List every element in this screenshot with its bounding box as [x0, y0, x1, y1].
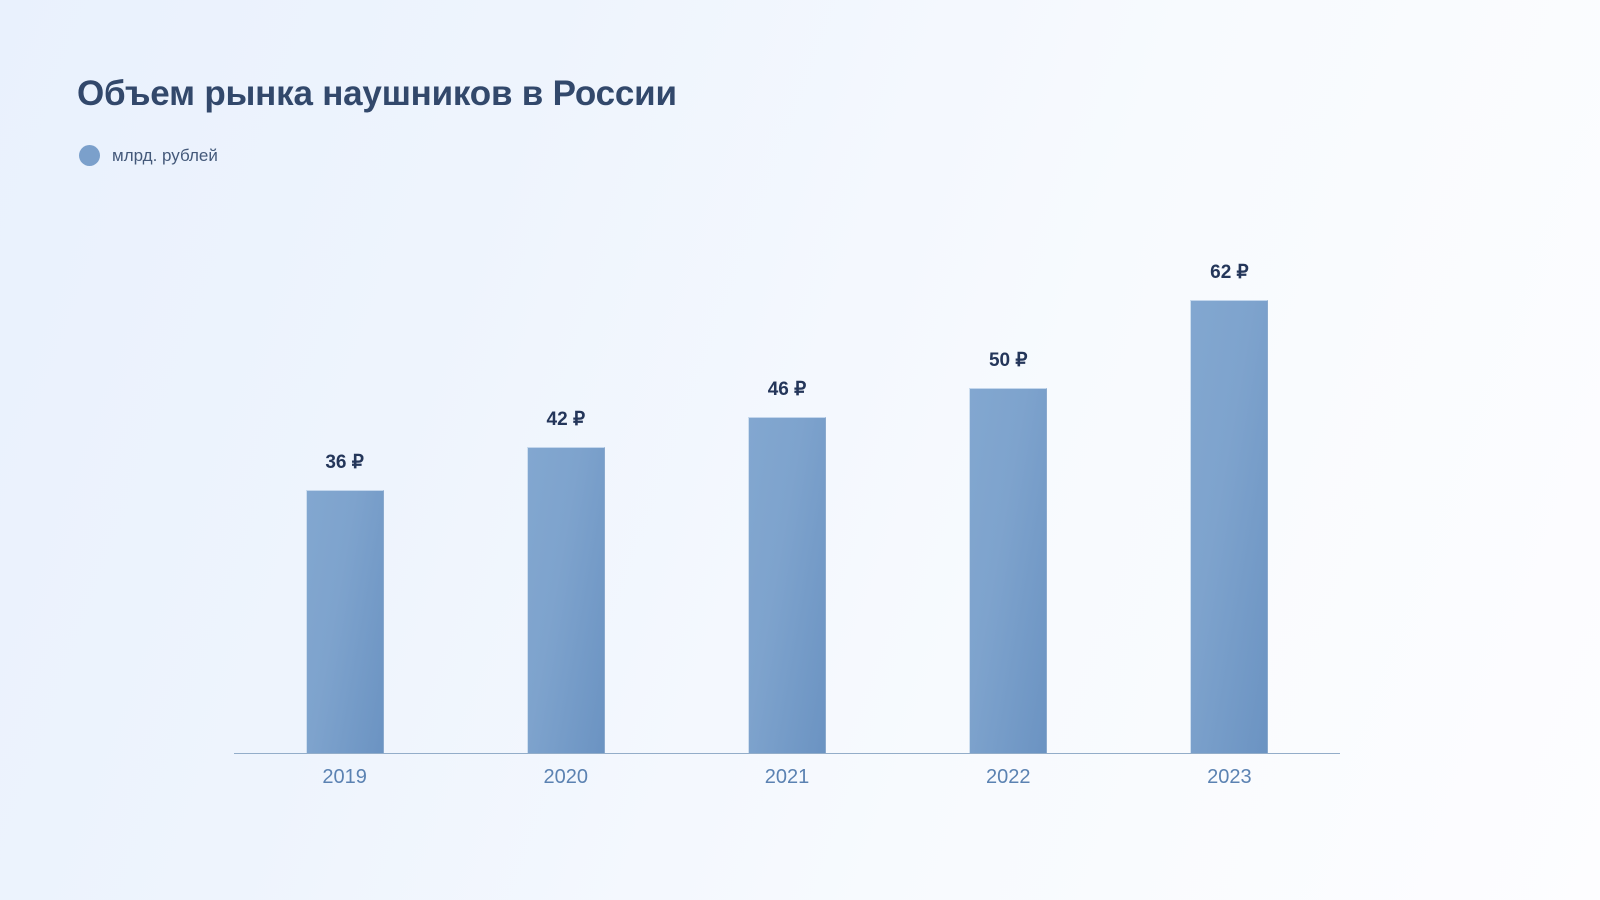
- bar[interactable]: [527, 447, 605, 754]
- x-axis-tick-label: 2023: [1207, 766, 1252, 788]
- page-title: Объем рынка наушников в России: [77, 74, 677, 114]
- bar[interactable]: [969, 388, 1047, 754]
- bar-slot: 46 ₽: [676, 150, 897, 754]
- x-axis-tick-label: 2022: [986, 766, 1031, 788]
- x-axis-labels: 20192020202120222023: [234, 766, 1340, 789]
- x-axis-tick: 2020: [455, 766, 676, 789]
- x-axis-tick: 2023: [1119, 766, 1340, 789]
- x-axis-tick-label: 2021: [765, 766, 810, 788]
- bar-slot: 36 ₽: [234, 150, 455, 754]
- plot-area: 36 ₽42 ₽46 ₽50 ₽62 ₽: [234, 150, 1340, 754]
- chart-legend: млрд. рублей: [79, 145, 218, 166]
- bar-slot: 50 ₽: [898, 150, 1119, 754]
- bar-value-label: 50 ₽: [989, 349, 1028, 372]
- x-axis-tick: 2022: [898, 766, 1119, 789]
- x-axis-tick-label: 2019: [322, 766, 367, 788]
- x-axis-line: [234, 753, 1340, 755]
- x-axis-tick: 2021: [676, 766, 897, 789]
- x-axis-tick: 2019: [234, 766, 455, 789]
- bar[interactable]: [306, 490, 384, 754]
- bar-group: 36 ₽42 ₽46 ₽50 ₽62 ₽: [234, 150, 1340, 754]
- bar[interactable]: [748, 417, 826, 754]
- bar-value-label: 36 ₽: [325, 451, 364, 474]
- bar-slot: 62 ₽: [1119, 150, 1340, 754]
- legend-dot-icon: [79, 145, 100, 166]
- bar-value-label: 46 ₽: [768, 378, 807, 401]
- chart-container: Объем рынка наушников в России млрд. руб…: [0, 0, 1600, 900]
- bar-value-label: 62 ₽: [1210, 261, 1249, 284]
- bar[interactable]: [1190, 300, 1268, 754]
- bar-slot: 42 ₽: [455, 150, 676, 754]
- x-axis-tick-label: 2020: [544, 766, 589, 788]
- bar-value-label: 42 ₽: [547, 408, 586, 431]
- legend-item-label: млрд. рублей: [112, 146, 218, 166]
